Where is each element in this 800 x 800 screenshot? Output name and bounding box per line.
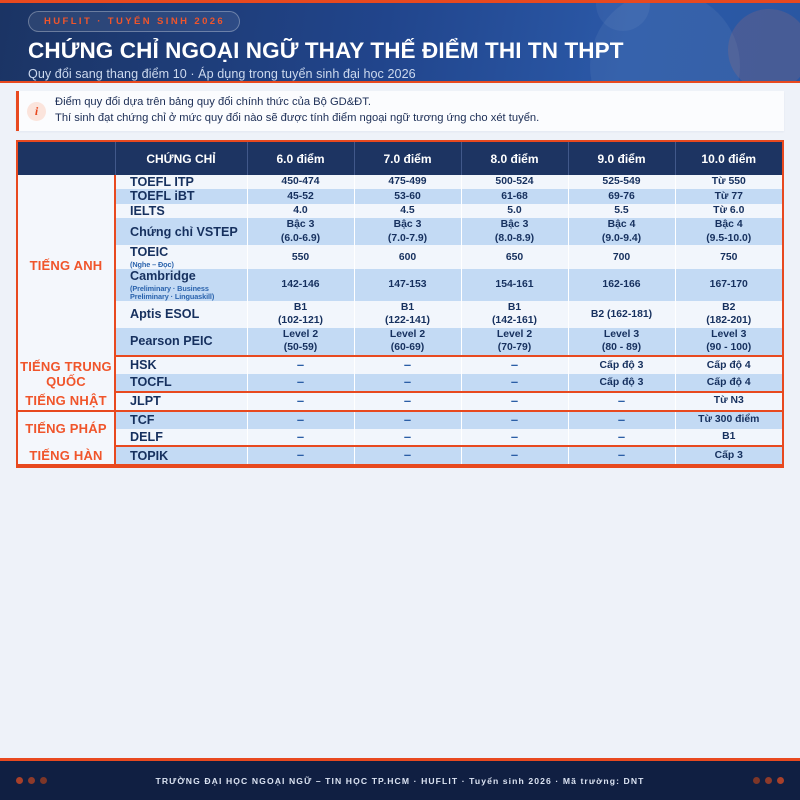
score-value: B1 [722,431,735,442]
table-row: IELTS4.04.55.05.5Từ 6.0 [18,204,782,218]
score-cell: Cấp độ 3 [568,374,675,392]
score-value: Level 3 [711,329,746,340]
certificate-label: DELF [130,430,163,444]
score-cell: 45-52 [247,189,354,203]
score-cell: 5.0 [461,204,568,218]
score-cell: – [247,392,354,411]
score-value: (102-121) [248,314,354,328]
score-cell: – [354,374,461,392]
language-group-label: TIẾNG PHÁP [18,411,115,447]
score-value: Từ 6.0 [713,205,744,216]
score-cell: 142-146 [247,269,354,301]
score-cell: – [354,392,461,411]
score-cell: 53-60 [354,189,461,203]
page-header: HUFLIT · TUYỂN SINH 2026 CHỨNG CHỈ NGOẠI… [0,0,800,83]
language-group-label: TIẾNG HÀN [18,446,115,465]
score-cell: Từ 77 [675,189,782,203]
score-value: – [404,374,411,389]
score-value: (9.5-10.0) [676,232,783,246]
score-cell: B1(122-141) [354,301,461,328]
score-value: 61-68 [501,191,528,202]
score-cell: – [247,446,354,465]
score-value: B1 [294,302,307,313]
info-line-2: Thí sinh đạt chứng chỉ ở mức quy đổi nào… [55,111,539,127]
certificate-sublabel: (Preliminary · Business Preliminary · Li… [130,285,247,301]
certificate-label: TOEIC [130,245,168,259]
score-cell: Cấp độ 3 [568,356,675,374]
score-cell: Level 2(70-79) [461,328,568,356]
score-value: 162-166 [602,279,640,290]
score-value: 650 [506,252,523,263]
score-cell: – [568,429,675,447]
score-value: 450-474 [281,176,319,187]
score-value: – [618,393,625,408]
score-value: 53-60 [394,191,421,202]
score-cell: B2 (162-181) [568,301,675,328]
score-value: – [618,412,625,427]
certificate-label: TCF [130,413,154,427]
score-value: – [297,393,304,408]
score-value: Level 2 [390,329,425,340]
score-cell: – [247,356,354,374]
certificate-name: TCF [115,411,247,429]
certificate-name: TOEIC(Nghe – Đọc) [115,245,247,269]
score-value: 154-161 [495,279,533,290]
header-score-8: 8.0 điểm [461,142,568,175]
header-badge: HUFLIT · TUYỂN SINH 2026 [28,11,240,32]
score-value: (70-79) [462,341,568,355]
infographic-page: HUFLIT · TUYỂN SINH 2026 CHỨNG CHỈ NGOẠI… [0,0,800,800]
info-icon: i [27,102,46,121]
score-cell: – [354,411,461,429]
score-value: – [618,447,625,462]
score-value: Cấp độ 4 [707,360,751,371]
score-value: 142-146 [281,279,319,290]
certificate-label: JLPT [130,394,161,408]
score-value: – [511,447,518,462]
score-value: – [297,429,304,444]
score-value: B2 (162-181) [591,309,652,320]
table-row: TIẾNG ANHTOEFL ITP450-474475-499500-5245… [18,175,782,189]
score-cell: B1(102-121) [247,301,354,328]
score-value: 5.0 [507,205,521,216]
score-value: Cấp 3 [715,450,743,461]
score-value: – [404,412,411,427]
score-cell: 475-499 [354,175,461,189]
conversion-table-wrapper: CHỨNG CHỈ 6.0 điểm 7.0 điểm 8.0 điểm 9.0… [16,140,784,468]
certificate-label: IELTS [130,204,165,218]
table-row: TIẾNG TRUNG QUỐCHSK–––Cấp độ 3Cấp độ 4 [18,356,782,374]
score-cell: Từ N3 [675,392,782,411]
score-cell: B1(142-161) [461,301,568,328]
score-value: 475-499 [388,176,426,187]
table-row: Pearson PEICLevel 2(50-59)Level 2(60-69)… [18,328,782,356]
certificate-label: TOEFL iBT [130,189,195,203]
info-banner: i Điểm quy đổi dựa trên bảng quy đổi chí… [16,91,784,131]
certificate-name: Chứng chỉ VSTEP [115,218,247,245]
score-cell: Bậc 3(6.0-6.9) [247,218,354,245]
table-body: TIẾNG ANHTOEFL ITP450-474475-499500-5245… [18,175,782,465]
score-value: – [618,429,625,444]
score-cell: 500-524 [461,175,568,189]
score-cell: – [247,374,354,392]
score-value: – [404,393,411,408]
score-cell: Cấp độ 4 [675,356,782,374]
score-cell: – [461,446,568,465]
table-row: TOEFL iBT45-5253-6061-6869-76Từ 77 [18,189,782,203]
score-cell: Level 3(80 - 89) [568,328,675,356]
table-row: TIẾNG NHẬTJLPT––––Từ N3 [18,392,782,411]
score-cell: Level 3(90 - 100) [675,328,782,356]
score-value: (182-201) [676,314,783,328]
page-footer: TRƯỜNG ĐẠI HỌC NGOẠI NGỮ – TIN HỌC TP.HC… [0,758,800,800]
score-cell: 525-549 [568,175,675,189]
score-value: – [297,412,304,427]
score-value: 5.5 [614,205,628,216]
score-cell: – [461,374,568,392]
score-cell: – [247,429,354,447]
score-value: 4.0 [293,205,307,216]
certificate-name: TOEFL ITP [115,175,247,189]
certificate-name: TOCFL [115,374,247,392]
score-cell: – [568,411,675,429]
score-cell: 600 [354,245,461,269]
score-value: Từ N3 [714,395,744,406]
score-value: (50-59) [248,341,354,355]
certificate-name: Pearson PEIC [115,328,247,356]
score-cell: – [461,411,568,429]
certificate-name: Cambridge(Preliminary · Business Prelimi… [115,269,247,301]
table-head: CHỨNG CHỈ 6.0 điểm 7.0 điểm 8.0 điểm 9.0… [18,142,782,175]
score-value: 147-153 [388,279,426,290]
header-score-6: 6.0 điểm [247,142,354,175]
info-line-1: Điểm quy đổi dựa trên bảng quy đổi chính… [55,95,539,111]
score-cell: Cấp 3 [675,446,782,465]
score-value: (80 - 89) [569,341,675,355]
certificate-name: IELTS [115,204,247,218]
certificate-name: Aptis ESOL [115,301,247,328]
certificate-name: JLPT [115,392,247,411]
score-value: B1 [508,302,521,313]
score-value: (90 - 100) [676,341,783,355]
score-cell: Bậc 3(7.0-7.9) [354,218,461,245]
dot-icon [753,777,760,784]
score-value: 45-52 [287,191,314,202]
score-cell: Bậc 4(9.0-9.4) [568,218,675,245]
score-cell: 4.0 [247,204,354,218]
score-value: Bậc 4 [715,219,743,230]
score-value: 500-524 [495,176,533,187]
score-cell: 5.5 [568,204,675,218]
certificate-label: Chứng chỉ VSTEP [130,225,238,239]
table-header-row: CHỨNG CHỈ 6.0 điểm 7.0 điểm 8.0 điểm 9.0… [18,142,782,175]
score-value: B1 [401,302,414,313]
score-value: Cấp độ 3 [600,360,644,371]
table-row: Aptis ESOLB1(102-121)B1(122-141)B1(142-1… [18,301,782,328]
score-cell: Từ 6.0 [675,204,782,218]
score-value: 167-170 [710,279,748,290]
score-value: – [404,357,411,372]
score-cell: – [247,411,354,429]
score-value: Bậc 4 [608,219,636,230]
score-value: (6.0-6.9) [248,232,354,246]
table-row: TIẾNG PHÁPTCF––––Từ 300 điểm [18,411,782,429]
score-cell: 147-153 [354,269,461,301]
score-cell: – [461,392,568,411]
certificate-label: TOPIK [130,449,168,463]
score-cell: 650 [461,245,568,269]
score-value: 69-76 [608,191,635,202]
score-value: Từ 300 điểm [698,414,759,425]
dot-icon [40,777,47,784]
certificate-label: Aptis ESOL [130,307,199,321]
certificate-label: TOEFL ITP [130,175,194,189]
header-score-10: 10.0 điểm [675,142,782,175]
score-value: Level 2 [497,329,532,340]
score-value: Bậc 3 [287,219,315,230]
score-cell: Level 2(60-69) [354,328,461,356]
score-cell: Bậc 4(9.5-10.0) [675,218,782,245]
score-value: Level 2 [283,329,318,340]
score-cell: 162-166 [568,269,675,301]
score-cell: – [354,356,461,374]
score-cell: 550 [247,245,354,269]
score-value: – [404,447,411,462]
certificate-label: TOCFL [130,375,172,389]
score-cell: Từ 300 điểm [675,411,782,429]
score-cell: – [568,446,675,465]
score-value: Bậc 3 [501,219,529,230]
dot-icon [777,777,784,784]
language-group-label: TIẾNG TRUNG QUỐC [18,356,115,392]
score-cell: 750 [675,245,782,269]
score-value: – [511,429,518,444]
score-cell: 4.5 [354,204,461,218]
page-subtitle: Quy đổi sang thang điểm 10 · Áp dụng tro… [28,67,800,81]
score-value: Từ 77 [715,191,743,202]
table-row: Cambridge(Preliminary · Business Prelimi… [18,269,782,301]
language-group-label: TIẾNG ANH [18,175,115,356]
score-cell: – [461,356,568,374]
header-language [18,142,115,175]
score-cell: – [461,429,568,447]
score-value: – [297,357,304,372]
score-value: Bậc 3 [394,219,422,230]
score-value: – [297,447,304,462]
score-value: 750 [720,252,737,263]
certificate-sublabel: (Nghe – Đọc) [130,261,247,269]
footer-dots-right [753,777,784,784]
table-row: TIẾNG HÀNTOPIK––––Cấp 3 [18,446,782,465]
score-value: (7.0-7.9) [355,232,461,246]
table-row: TOEIC(Nghe – Đọc)550600650700750 [18,245,782,269]
score-cell: 154-161 [461,269,568,301]
dot-icon [16,777,23,784]
language-group-label: TIẾNG NHẬT [18,392,115,411]
score-value: 600 [399,252,416,263]
score-value: Cấp độ 4 [707,377,751,388]
footer-text: TRƯỜNG ĐẠI HỌC NGOẠI NGỮ – TIN HỌC TP.HC… [155,776,644,786]
score-cell: Bậc 3(8.0-8.9) [461,218,568,245]
score-cell: – [568,392,675,411]
score-value: – [511,412,518,427]
certificate-name: TOEFL iBT [115,189,247,203]
page-title: CHỨNG CHỈ NGOẠI NGỮ THAY THẾ ĐIỂM THI TN… [28,39,800,63]
score-value: Cấp độ 3 [600,377,644,388]
score-value: 4.5 [400,205,414,216]
score-cell: Level 2(50-59) [247,328,354,356]
certificate-label: Cambridge [130,269,196,283]
dot-icon [765,777,772,784]
score-value: – [511,393,518,408]
score-cell: – [354,446,461,465]
score-value: (8.0-8.9) [462,232,568,246]
score-value: – [511,374,518,389]
certificate-label: HSK [130,358,157,372]
score-cell: 61-68 [461,189,568,203]
table-row: TOCFL–––Cấp độ 3Cấp độ 4 [18,374,782,392]
header-certificate: CHỨNG CHỈ [115,142,247,175]
score-cell: 69-76 [568,189,675,203]
certificate-name: HSK [115,356,247,374]
score-value: (142-161) [462,314,568,328]
score-value: 700 [613,252,630,263]
table-row: DELF––––B1 [18,429,782,447]
certificate-name: TOPIK [115,446,247,465]
score-cell: B2(182-201) [675,301,782,328]
conversion-table: CHỨNG CHỈ 6.0 điểm 7.0 điểm 8.0 điểm 9.0… [18,142,782,466]
score-value: 550 [292,252,309,263]
certificate-label: Pearson PEIC [130,334,213,348]
score-value: Từ 550 [712,176,746,187]
score-value: (9.0-9.4) [569,232,675,246]
score-value: (60-69) [355,341,461,355]
score-cell: Từ 550 [675,175,782,189]
score-cell: 700 [568,245,675,269]
score-cell: – [354,429,461,447]
score-value: (122-141) [355,314,461,328]
score-value: – [511,357,518,372]
score-cell: 450-474 [247,175,354,189]
score-value: B2 [722,302,735,313]
score-value: Level 3 [604,329,639,340]
score-value: – [404,429,411,444]
score-value: – [297,374,304,389]
dot-icon [28,777,35,784]
header-score-7: 7.0 điểm [354,142,461,175]
info-text: Điểm quy đổi dựa trên bảng quy đổi chính… [55,95,539,127]
certificate-name: DELF [115,429,247,447]
table-row: Chứng chỉ VSTEPBậc 3(6.0-6.9)Bậc 3(7.0-7… [18,218,782,245]
footer-dots-left [16,777,47,784]
score-value: 525-549 [602,176,640,187]
score-cell: B1 [675,429,782,447]
header-score-9: 9.0 điểm [568,142,675,175]
score-cell: Cấp độ 4 [675,374,782,392]
score-cell: 167-170 [675,269,782,301]
